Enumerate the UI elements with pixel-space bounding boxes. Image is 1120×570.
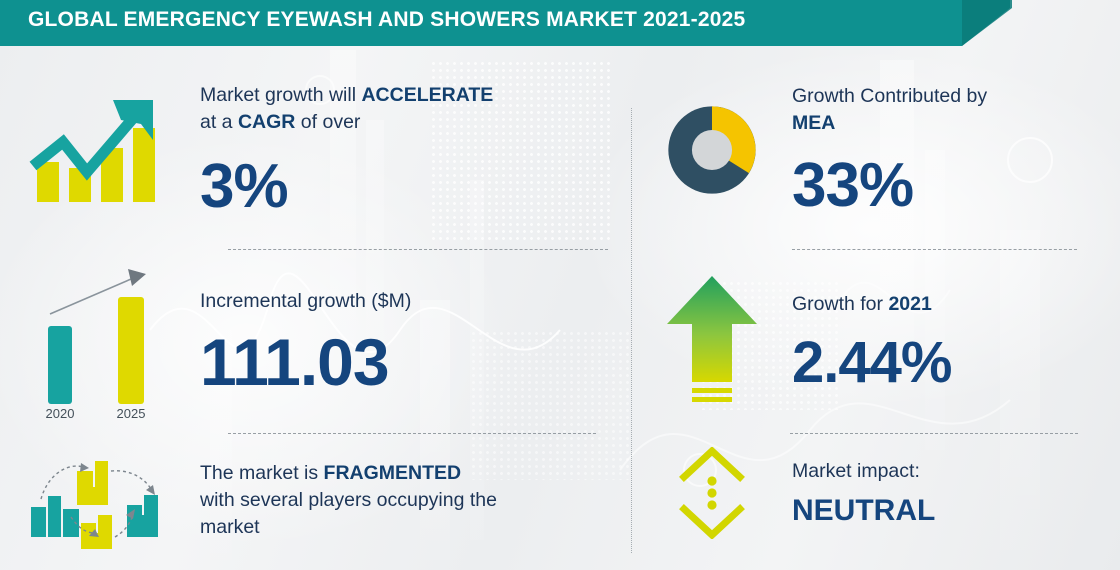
right-column: Growth Contributed by MEA 33% [632, 46, 1120, 570]
infographic-root: GLOBAL EMERGENCY EYEWASH AND SHOWERS MAR… [0, 0, 1120, 570]
impact-label: Market impact: [792, 457, 1120, 485]
left-column: Market growth will ACCELERATE at a CAGR … [0, 46, 632, 570]
cell-cagr: Market growth will ACCELERATE at a CAGR … [0, 54, 632, 246]
page-title: GLOBAL EMERGENCY EYEWASH AND SHOWERS MAR… [28, 0, 745, 40]
cagr-line2-bold: CAGR [238, 111, 295, 133]
donut-chart-icon [632, 91, 792, 209]
cagr-headline: Market growth will ACCELERATE at a CAGR … [200, 82, 632, 136]
region-text-block: Growth Contributed by MEA 33% [792, 83, 1120, 217]
header-corner-fold [962, 0, 1012, 46]
yoy-label-pre: Growth for [792, 293, 888, 315]
city-buildings-network-icon [0, 451, 200, 551]
content-grid: Market growth will ACCELERATE at a CAGR … [0, 46, 1120, 570]
cagr-text-block: Market growth will ACCELERATE at a CAGR … [200, 82, 632, 218]
impact-text-block: Market impact: NEUTRAL [792, 457, 1120, 529]
incremental-text-block: Incremental growth ($M) 111.03 [200, 288, 632, 395]
bar-label-2020: 2020 [46, 406, 75, 419]
cagr-value: 3% [200, 156, 632, 218]
up-arrow-icon [632, 274, 792, 409]
cell-fragmentation: The market is FRAGMENTED with several pl… [0, 438, 632, 563]
region-label-pre: Growth Contributed by [792, 85, 987, 107]
region-label: Growth Contributed by MEA [792, 83, 1120, 137]
yoy-text-block: Growth for 2021 2.44% [792, 291, 1120, 392]
cagr-line1-pre: Market growth will [200, 84, 361, 106]
region-value: 33% [792, 155, 1120, 217]
cagr-line2-post: of over [295, 111, 360, 133]
yoy-label: Growth for 2021 [792, 291, 1120, 318]
cell-market-impact: Market impact: NEUTRAL [632, 438, 1120, 548]
fragmentation-line1-bold: FRAGMENTED [324, 462, 462, 484]
growth-arrow-chart-icon [0, 90, 200, 210]
yoy-label-bold: 2021 [888, 293, 931, 315]
cell-incremental-growth: 2020 2025 Incremental growth ($M) 111.03 [0, 251, 632, 431]
up-down-chevrons-icon [632, 447, 792, 539]
region-label-bold: MEA [792, 112, 835, 134]
cagr-line2-pre: at a [200, 111, 238, 133]
cell-region-contribution: Growth Contributed by MEA 33% [632, 54, 1120, 246]
cagr-line1-bold: ACCELERATE [361, 84, 493, 106]
yoy-value: 2.44% [792, 334, 1120, 392]
two-bar-growth-icon: 2020 2025 [0, 264, 200, 419]
fragmentation-line2: with several players occupying the [200, 489, 497, 511]
fragmentation-line3: market [200, 516, 260, 538]
impact-value: NEUTRAL [792, 493, 1120, 529]
cell-yoy-growth: Growth for 2021 2.44% [632, 251, 1120, 431]
fragmentation-line1-pre: The market is [200, 462, 324, 484]
incremental-value: 111.03 [200, 329, 632, 395]
incremental-label: Incremental growth ($M) [200, 288, 632, 315]
fragmentation-text-block: The market is FRAGMENTED with several pl… [200, 460, 632, 541]
fragmentation-headline: The market is FRAGMENTED with several pl… [200, 460, 632, 541]
bar-label-2025: 2025 [117, 406, 146, 419]
